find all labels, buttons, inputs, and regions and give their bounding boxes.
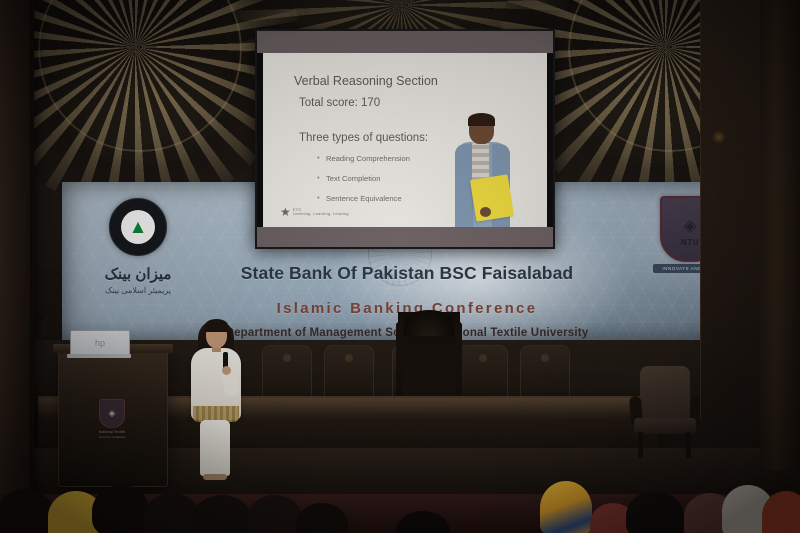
podium-microphone-head-icon [36, 314, 44, 322]
meezan-urdu-tagline: پریمیئر اسلامی بینک [86, 286, 190, 295]
meezan-inner-disc: ▲ [121, 210, 155, 244]
presenter-hand [222, 366, 231, 375]
podium-emblem-line2: University Faisalabad [97, 435, 127, 439]
list-item: Sentence Equivalence [317, 194, 410, 203]
podium-emblem-line1: National Textile [97, 430, 127, 434]
ets-tagline: Listening. Learning. Leading. [293, 212, 350, 216]
armchair-leg-left [638, 432, 643, 458]
student-yellow-folder [470, 174, 514, 221]
slide-title: Verbal Reasoning Section [294, 74, 438, 88]
armchair-back [640, 366, 690, 424]
side-armchair [632, 366, 702, 458]
presentation-slide: Verbal Reasoning Section Total score: 17… [263, 53, 547, 227]
stage-chair [458, 345, 508, 399]
slide-total-score: Total score: 170 [299, 97, 380, 109]
meezan-bank-mark-icon: ▲ [109, 198, 167, 256]
audience-head [540, 481, 592, 533]
screen-letterbox-top [257, 31, 553, 53]
student-hair [468, 113, 495, 126]
ets-logo: ★ ETS Listening. Learning. Leading. [280, 206, 350, 218]
ntu-knot-icon: ◈ [683, 217, 696, 234]
slide-bullet-list: Reading Comprehension Text Completion Se… [317, 154, 410, 214]
center-ornate-chair [398, 312, 460, 408]
meezan-urdu-name: میزان بینک [86, 265, 190, 283]
speaker-podium: ◈ National Textile University Faisalabad [58, 350, 168, 487]
meezan-triangle-icon: ▲ [129, 218, 148, 237]
right-doorway [700, 0, 763, 420]
meezan-bank-logo: ▲ میزان بینک پریمیئر اسلامی بینک [86, 198, 190, 306]
wall-sconce-icon [712, 130, 726, 144]
armchair-leg-right [686, 432, 691, 458]
laptop-base [67, 354, 131, 358]
podium-shield-icon: ◈ [99, 399, 125, 428]
right-wall-column [760, 0, 800, 470]
list-item: Text Completion [317, 174, 410, 183]
presenter-hair-top [205, 319, 228, 332]
list-item: Reading Comprehension [317, 154, 410, 163]
audience-head [626, 491, 684, 533]
audience-head [92, 485, 150, 533]
presenter-person [180, 318, 250, 483]
ntu-abbreviation: NTU [681, 238, 699, 247]
hp-logo-icon: hp [95, 339, 105, 348]
left-pillar-shadow [30, 0, 36, 500]
audience-foreground [0, 468, 800, 533]
podium-ntu-emblem: ◈ National Textile University Faisalabad [97, 399, 127, 433]
left-pillar [0, 0, 34, 500]
laptop-lid: hp [70, 330, 130, 356]
conference-photo-scene: PAKISTAN State Bank Of Pakistan BSC Fais… [0, 0, 800, 533]
student-hand [480, 207, 491, 217]
slide-subtitle: Three types of questions: [299, 132, 428, 144]
podium-knot-icon: ◈ [109, 409, 116, 418]
stage-chair [324, 345, 374, 399]
audience-head [248, 495, 302, 533]
projection-screen: Verbal Reasoning Section Total score: 17… [255, 29, 555, 249]
stage-chair [520, 345, 570, 399]
screen-letterbox-bottom [257, 227, 553, 247]
chair-crest-carving [404, 310, 454, 336]
slide-student-photo [445, 111, 525, 227]
star-icon: ★ [280, 206, 291, 218]
podium-laptop: hp [70, 330, 128, 358]
stage-chair [262, 345, 312, 399]
